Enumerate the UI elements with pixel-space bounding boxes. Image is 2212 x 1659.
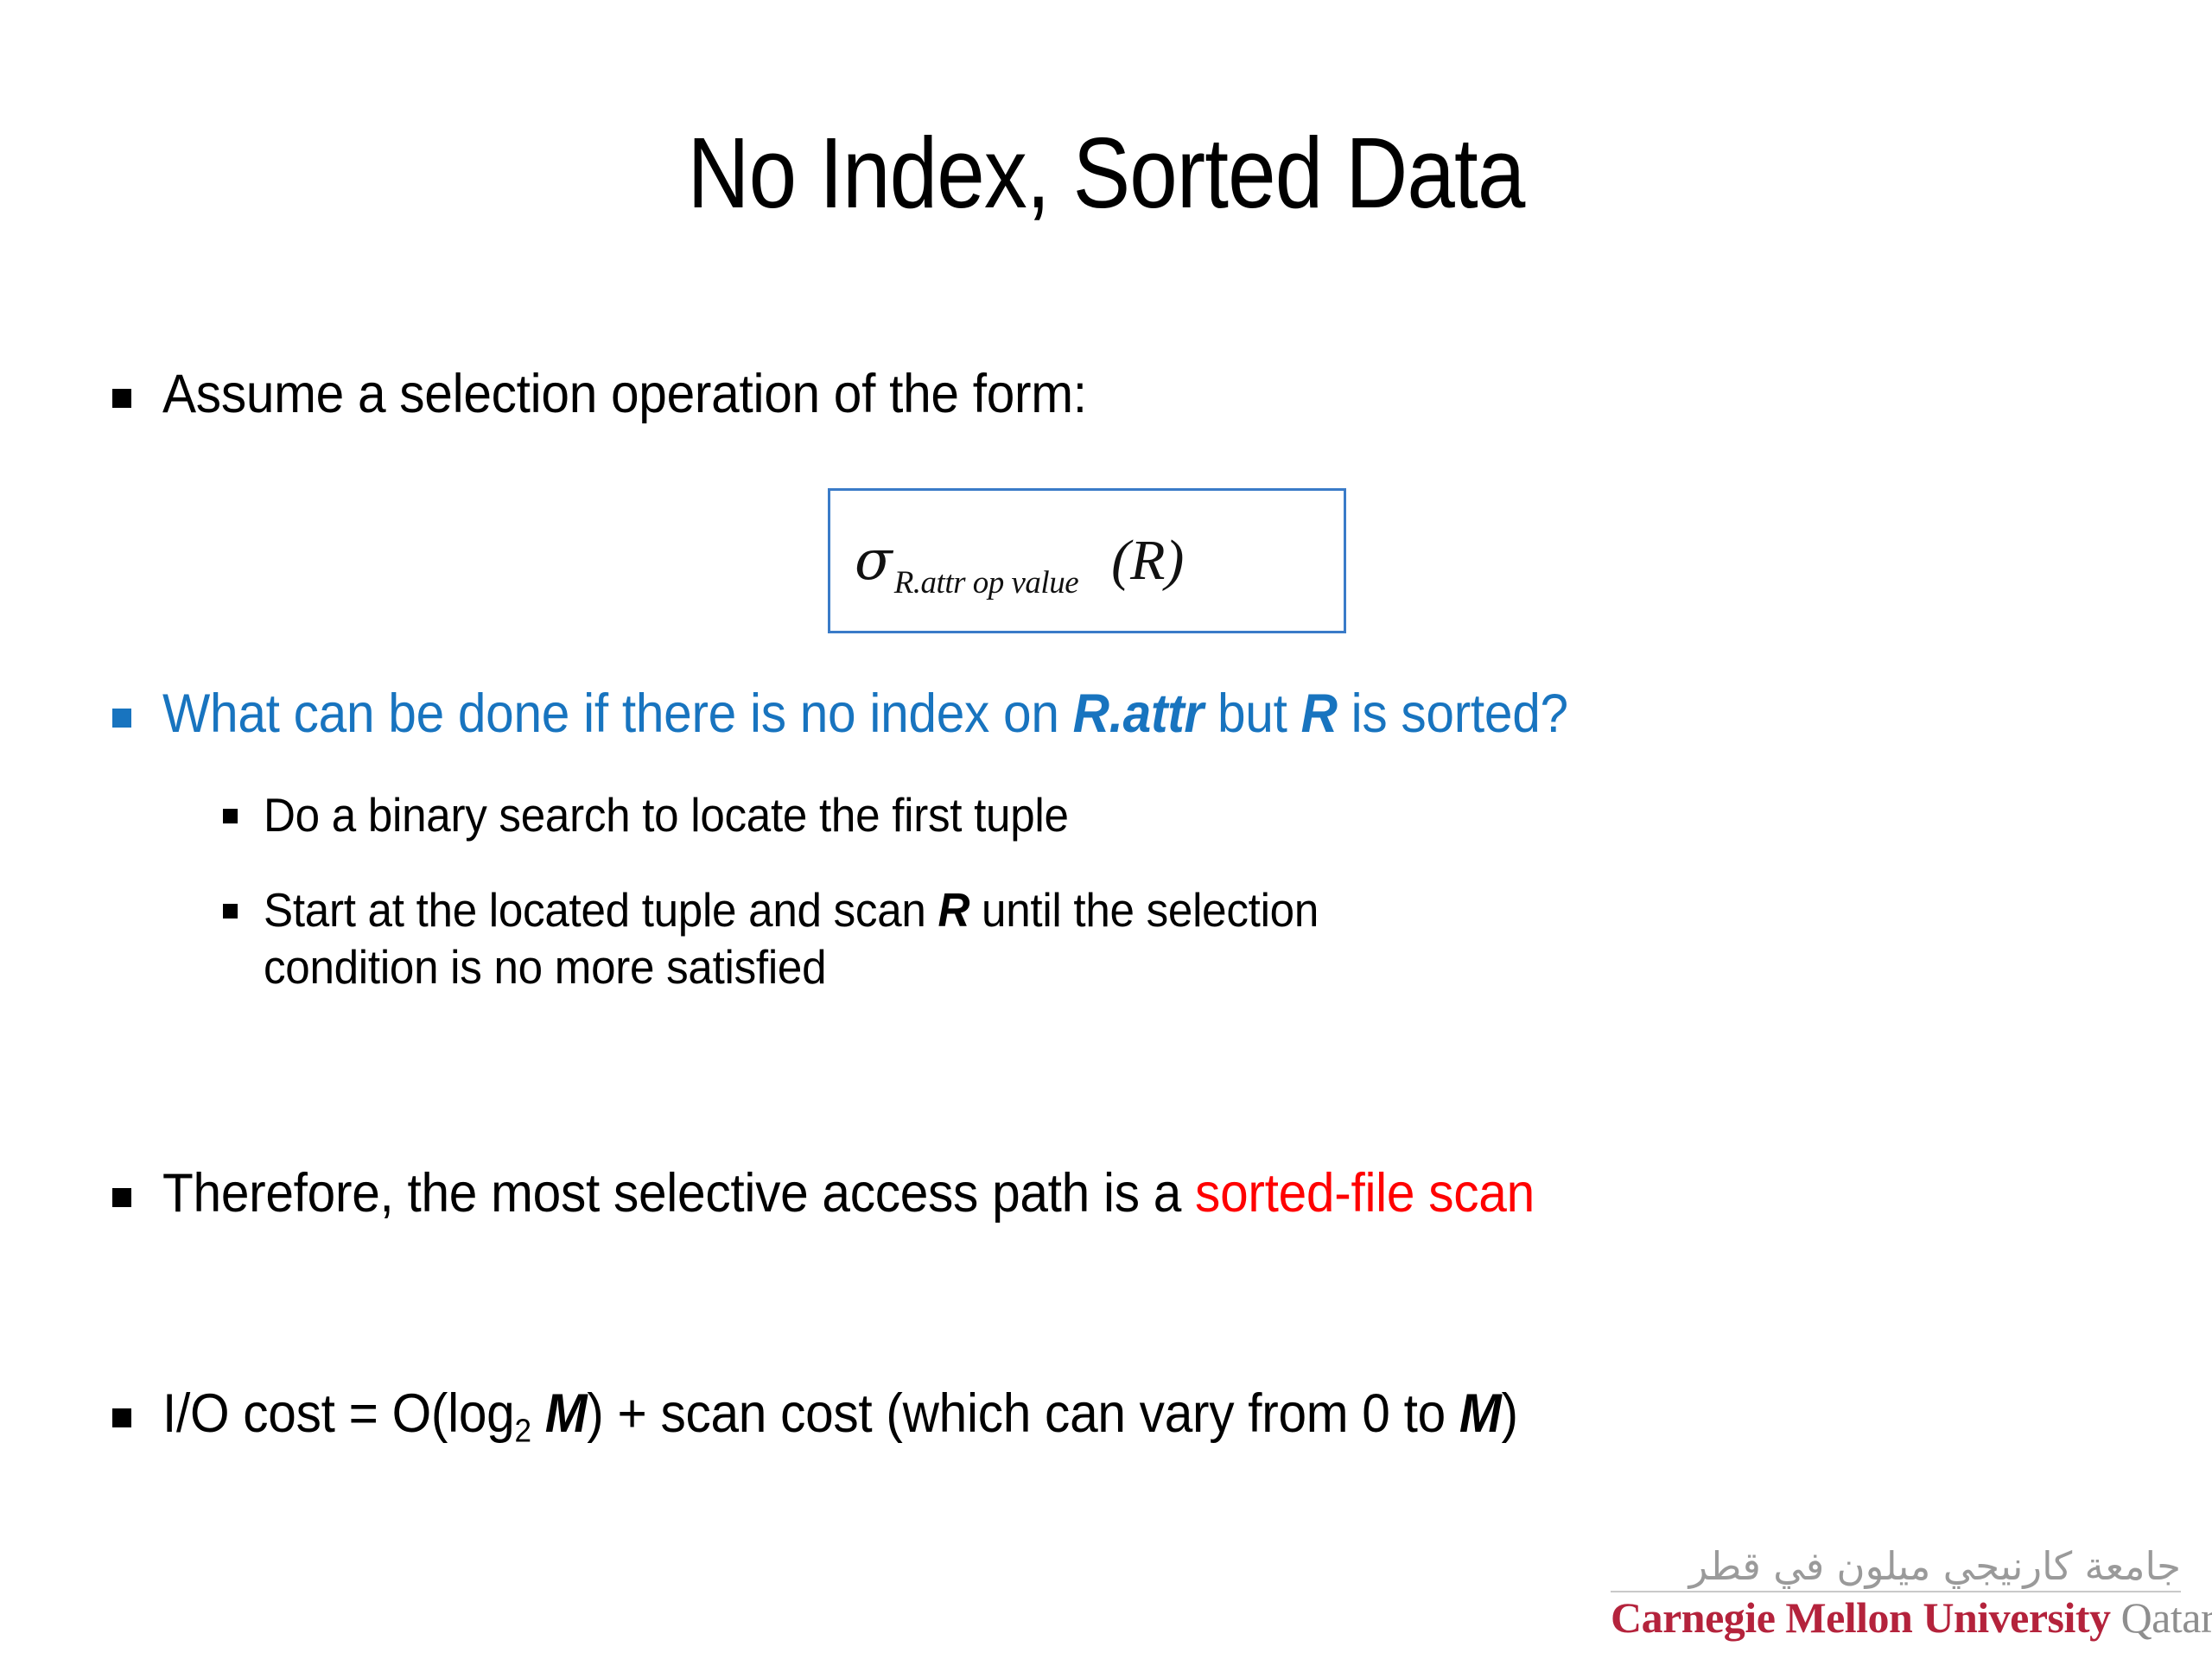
square-bullet-icon <box>112 709 131 728</box>
emph-r: R <box>938 883 969 937</box>
text-segment: Start at the located tuple and scan <box>264 883 938 937</box>
selection-formula: σR.attr op value(R) <box>855 528 1184 594</box>
logo-english-text: Carnegie Mellon University Qatar <box>1611 1595 2181 1641</box>
log-base-subscript: 2 <box>514 1413 531 1449</box>
bullet-io-cost-label: I/O cost = O(log2 M) + scan cost (which … <box>162 1382 1518 1451</box>
text-segment: is sorted? <box>1338 683 1568 744</box>
logo-arabic-text: جامعة كارنيجي ميلون في قطر <box>1611 1546 2181 1586</box>
bullet-io-cost: I/O cost = O(log2 M) + scan cost (which … <box>112 1382 1620 1451</box>
logo-university-name: Carnegie Mellon University <box>1611 1593 2111 1642</box>
formula-container: σR.attr op value(R) <box>828 488 1346 633</box>
text-segment: What can be done if there is no index on <box>162 683 1073 744</box>
logo-divider <box>1611 1591 2181 1592</box>
bullet-therefore: Therefore, the most selective access pat… <box>112 1162 1637 1226</box>
sub-bullet-binary-label: Do a binary search to locate the first t… <box>264 786 1069 843</box>
text-segment: I/O cost = O(log <box>162 1383 514 1444</box>
cmu-qatar-logo: جامعة كارنيجي ميلون في قطر Carnegie Mell… <box>1611 1546 2181 1640</box>
square-bullet-icon <box>223 809 238 823</box>
sub-bullet-binary-search: Do a binary search to locate the first t… <box>223 786 1129 843</box>
bullet-what-label: What can be done if there is no index on… <box>162 683 1568 747</box>
formula-subscript: R.attr op value <box>894 564 1078 601</box>
formula-box: σR.attr op value(R) <box>828 488 1346 633</box>
bullet-what-can-be-done: What can be done if there is no index on… <box>112 683 1674 747</box>
emph-r-attr: R.attr <box>1073 683 1204 744</box>
text-segment: but <box>1204 683 1301 744</box>
sub-bullet-start-scan: Start at the located tuple and scan R un… <box>223 881 1516 995</box>
highlight-sorted-file-scan: sorted-file scan <box>1195 1163 1535 1224</box>
text-segment: ) <box>1501 1383 1517 1444</box>
bullet-assume-label: Assume a selection operation of the form… <box>162 363 1087 427</box>
text-segment <box>531 1383 545 1444</box>
square-bullet-icon <box>223 904 238 918</box>
sigma-symbol: σ <box>855 533 893 588</box>
square-bullet-icon <box>112 1408 131 1427</box>
slide-canvas: No Index, Sorted Data Assume a selection… <box>0 0 2212 1659</box>
square-bullet-icon <box>112 389 131 408</box>
sub-bullet-start-label: Start at the located tuple and scan R un… <box>264 881 1429 995</box>
emph-m: M <box>545 1383 588 1444</box>
bullet-assume: Assume a selection operation of the form… <box>112 363 1156 427</box>
bullet-therefore-label: Therefore, the most selective access pat… <box>162 1162 1535 1226</box>
square-bullet-icon <box>112 1188 131 1207</box>
text-segment: Therefore, the most selective access pat… <box>162 1163 1195 1224</box>
text-segment: ) + scan cost (which can vary from 0 to <box>587 1383 1459 1444</box>
emph-r: R <box>1301 683 1338 744</box>
page-title: No Index, Sorted Data <box>155 121 2057 226</box>
logo-campus-name: Qatar <box>2121 1593 2212 1642</box>
emph-m: M <box>1459 1383 1502 1444</box>
formula-argument: (R) <box>1111 528 1184 594</box>
